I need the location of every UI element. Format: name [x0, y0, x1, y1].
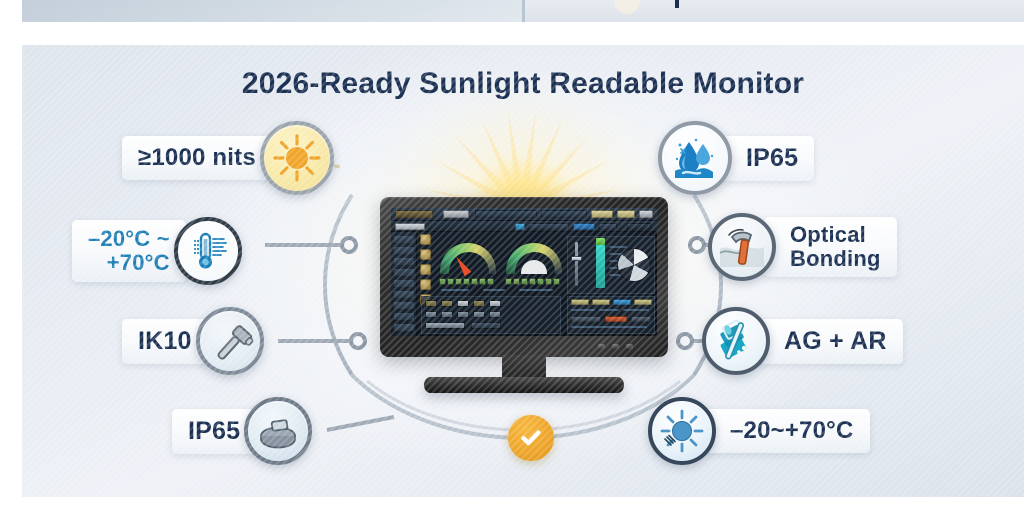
hammer-bonding-icon	[708, 213, 776, 281]
feature-brightness[interactable]: ≥1000 nits	[122, 121, 334, 195]
gauge-needle	[453, 254, 471, 276]
monitor-menu-button[interactable]	[612, 344, 619, 349]
screen-top-toolbar	[391, 208, 657, 221]
feature-ik10-label: IK10	[138, 328, 192, 355]
feature-brightness-pill: ≥1000 nits	[122, 136, 272, 180]
feature-optical-line1: Optical	[790, 223, 881, 247]
screen-pie-chart	[617, 248, 651, 282]
feature-ip65-left-label: IP65	[188, 418, 240, 445]
feature-temp-pill: –20°C ~ +70°C	[72, 220, 186, 282]
screen-status-strip-right	[505, 278, 563, 285]
top-strip-tile-left	[22, 0, 522, 22]
feature-anti-glare-anti-reflective[interactable]: AG + AR	[702, 307, 903, 375]
sun-icon	[260, 121, 334, 195]
feature-ik10-pill: IK10	[122, 319, 208, 364]
check-circle-icon	[508, 415, 554, 461]
feature-ip65-right-label: IP65	[746, 145, 798, 172]
feature-ingress-protection-right[interactable]: IP65	[658, 121, 814, 195]
seal-gasket-icon	[244, 397, 312, 465]
feature-ingress-protection-left[interactable]: IP65	[172, 397, 312, 465]
feature-optical-bonding-label: Optical Bonding	[790, 223, 881, 271]
feature-agar-pill: AG + AR	[758, 319, 903, 364]
page-title: 2026-Ready Sunlight Readable Monitor	[22, 67, 1024, 101]
thermometer-icon	[174, 217, 242, 285]
feature-temp-label: –20°C ~ +70°C	[88, 227, 170, 275]
top-strip-tile-right	[525, 0, 1024, 22]
infographic-root: 2026-Ready Sunlight Readable Monitor ≥10…	[0, 0, 1024, 512]
top-strip-text-fragment	[675, 0, 679, 8]
screen-bar-green	[596, 238, 605, 245]
feature-optical-line2: Bonding	[790, 247, 881, 271]
feature-ip65-right-pill: IP65	[720, 136, 814, 181]
feature-optical-bonding-pill: Optical Bonding	[764, 217, 897, 277]
feature-optical-bonding[interactable]: Optical Bonding	[708, 213, 897, 281]
monitor-screen	[391, 208, 657, 336]
feature-temp-line2: +70°C	[88, 251, 170, 275]
hammer-icon	[196, 307, 264, 375]
feature-brightness-label: ≥1000 nits	[138, 145, 256, 171]
top-cutoff-strip	[22, 0, 1024, 22]
industrial-monitor	[380, 197, 668, 402]
blue-sun-icon	[648, 397, 716, 465]
monitor-chin	[380, 337, 668, 357]
screen-side-nav	[391, 232, 417, 336]
screen-gauge-right	[505, 242, 563, 274]
monitor-stand-base	[424, 377, 624, 393]
infographic-panel: 2026-Ready Sunlight Readable Monitor ≥10…	[22, 45, 1024, 497]
screen-bar-teal	[596, 244, 605, 288]
screen-slider[interactable]	[575, 242, 578, 286]
screen-gauge-left	[439, 242, 497, 274]
screen-status-strip-left	[439, 278, 497, 285]
feature-temperature-range-right[interactable]: –20~+70°C	[648, 397, 870, 465]
monitor-power-button[interactable]	[598, 344, 605, 349]
feature-temp-right-label: –20~+70°C	[730, 418, 854, 444]
gauge-dome	[521, 260, 547, 274]
feature-temp-line1: –20°C ~	[88, 227, 170, 251]
monitor-input-button[interactable]	[626, 344, 633, 349]
feature-agar-label: AG + AR	[784, 328, 887, 355]
water-drop-icon	[658, 121, 732, 195]
coating-layers-icon	[702, 307, 770, 375]
feature-impact-rating[interactable]: IK10	[122, 307, 264, 375]
screen-tab-bar	[391, 221, 657, 232]
feature-temp-right-pill: –20~+70°C	[704, 409, 870, 453]
feature-operating-temperature[interactable]: –20°C ~ +70°C	[72, 217, 242, 285]
